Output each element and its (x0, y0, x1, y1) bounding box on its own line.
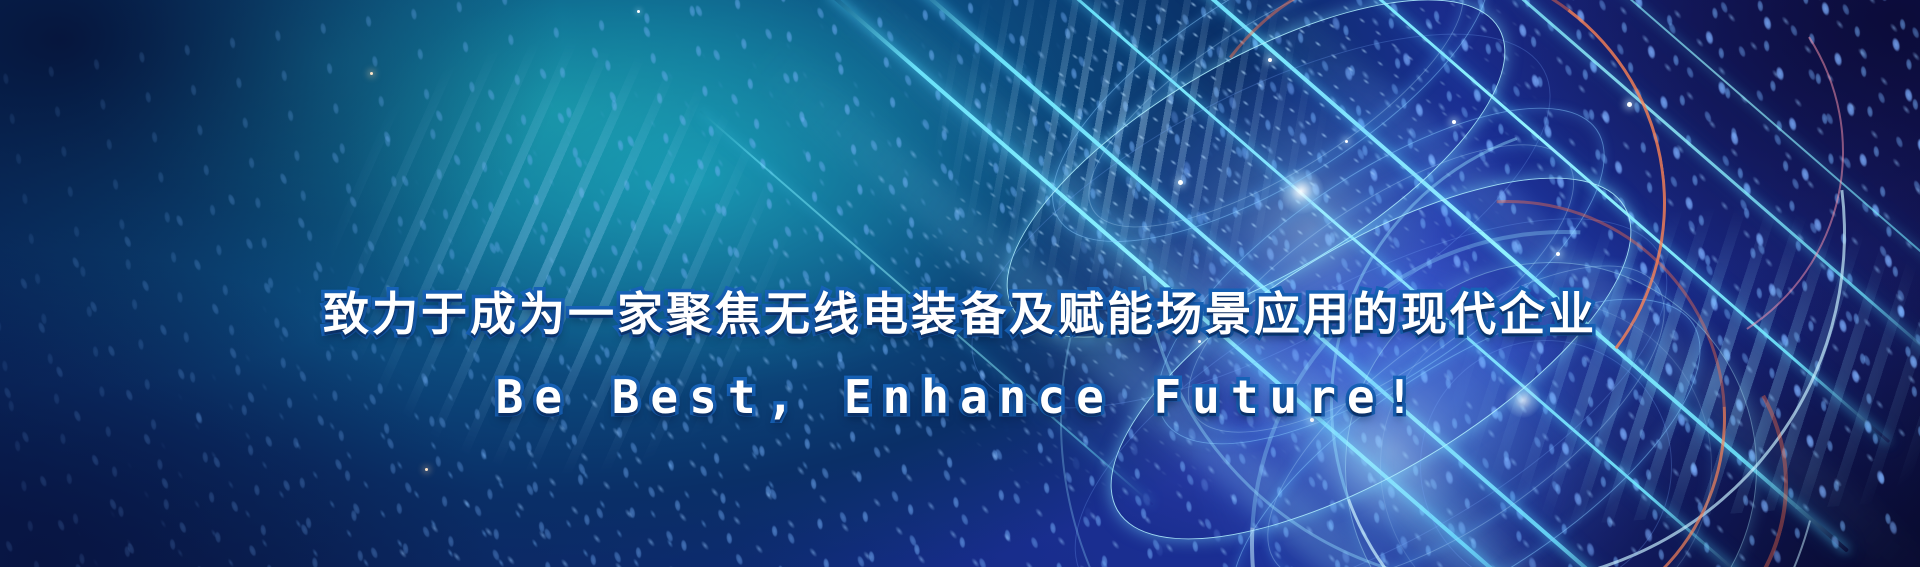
hero-banner: 致力于成为一家聚焦无线电装备及赋能场景应用的现代企业 Be Best, Enha… (0, 0, 1920, 567)
technology-orbit-graphic (0, 0, 1920, 567)
